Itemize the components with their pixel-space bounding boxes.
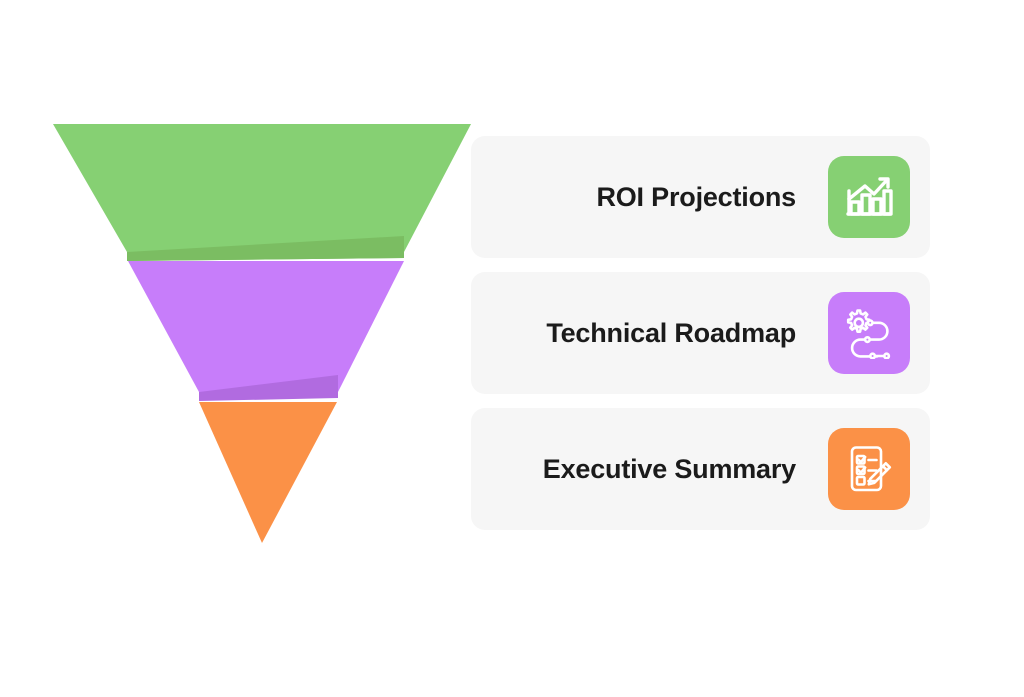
stage-label-technical-roadmap: Technical Roadmap — [546, 318, 796, 349]
stage-row-executive-summary[interactable]: Executive Summary — [471, 408, 930, 530]
stage-row-roi-projections[interactable]: ROI Projections — [471, 136, 930, 258]
funnel-segment-green-shadow — [127, 252, 404, 261]
stage-list: ROI Projections — [471, 136, 930, 530]
checklist-clipboard-pencil-icon — [843, 443, 895, 495]
gear-roadmap-path-icon — [843, 307, 895, 359]
stage-label-roi-projections: ROI Projections — [596, 182, 796, 213]
stage-label-executive-summary: Executive Summary — [543, 454, 796, 485]
funnel-segment-purple — [128, 261, 404, 392]
funnel-segment-green — [53, 124, 471, 252]
icon-tile-executive-summary — [828, 428, 910, 510]
icon-tile-technical-roadmap — [828, 292, 910, 374]
funnel-infographic: ROI Projections — [0, 0, 1024, 697]
bar-chart-growth-icon — [843, 171, 895, 223]
funnel-segment-orange — [199, 402, 337, 543]
stage-row-technical-roadmap[interactable]: Technical Roadmap — [471, 272, 930, 394]
funnel-segment-green-shadow-slant — [127, 236, 404, 261]
funnel-segment-purple-shadow-slant — [199, 375, 338, 401]
icon-tile-roi-projections — [828, 156, 910, 238]
